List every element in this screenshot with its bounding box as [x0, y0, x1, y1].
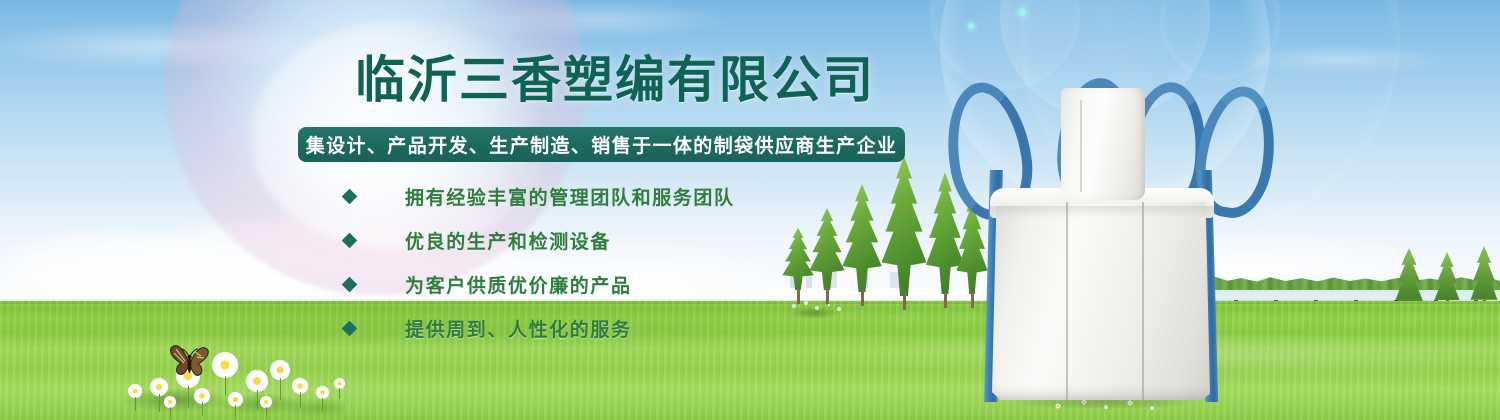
subtitle-banner: 集设计、产品开发、生产制造、销售于一体的制袋供应商生产企业 [298, 127, 905, 162]
bag-fill-spout [1061, 88, 1145, 200]
feature-list: 拥有经验丰富的管理团队和服务团队 优良的生产和检测设备 为客户供质优价廉的产品 … [338, 178, 798, 354]
list-item: 优良的生产和检测设备 [338, 222, 798, 259]
bag-seam [1066, 202, 1068, 400]
list-item: 拥有经验丰富的管理团队和服务团队 [338, 178, 798, 215]
list-item: 为客户供质优价廉的产品 [338, 266, 798, 303]
bag-body [992, 202, 1210, 400]
subtitle-text: 集设计、产品开发、生产制造、销售于一体的制袋供应商生产企业 [306, 131, 898, 158]
promo-banner: 临沂三香塑编有限公司 集设计、产品开发、生产制造、销售于一体的制袋供应商生产企业… [0, 0, 1500, 420]
list-item-label: 为客户供质优价廉的产品 [405, 271, 632, 298]
diamond-bullet-icon [342, 189, 358, 205]
diamond-bullet-icon [342, 321, 358, 337]
fibc-bulk-bag-image [930, 60, 1260, 420]
diamond-bullet-icon [342, 233, 358, 249]
daisy-flower-bed [120, 348, 345, 420]
bag-spout-fold [1080, 100, 1082, 192]
diamond-bullet-icon [342, 277, 358, 293]
sparkle-icon [1019, 9, 1026, 16]
butterfly-icon [168, 344, 212, 380]
sparkle-icon [968, 23, 974, 29]
list-item: 提供周到、人性化的服务 [338, 310, 798, 347]
bag-top-shading [990, 206, 1214, 218]
list-item-label: 提供周到、人性化的服务 [405, 315, 632, 342]
list-item-label: 优良的生产和检测设备 [405, 227, 611, 254]
bag-seam [1142, 202, 1144, 400]
list-item-label: 拥有经验丰富的管理团队和服务团队 [405, 183, 735, 210]
page-title: 临沂三香塑编有限公司 [355, 40, 875, 112]
